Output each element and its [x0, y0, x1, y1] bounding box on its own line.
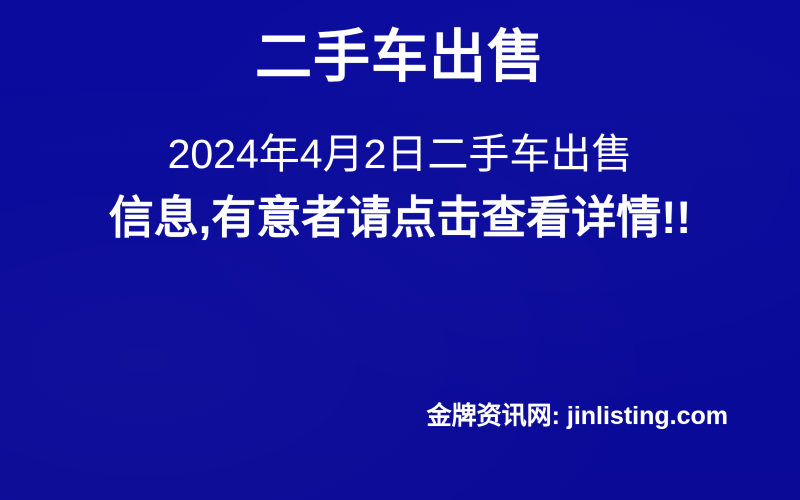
- footer-site-name: 金牌资讯网: [427, 402, 552, 430]
- body-text-block: 2024年4月2日二手车出售 信息,有意者请点击查看详情!!: [0, 134, 800, 240]
- body-line-date: 2024年4月2日二手车出售: [0, 134, 800, 175]
- body-line-call-to-action[interactable]: 信息,有意者请点击查看详情!!: [0, 195, 800, 240]
- poster-canvas: 二手车出售 2024年4月2日二手车出售 信息,有意者请点击查看详情!! 金牌资…: [0, 0, 800, 500]
- title-block: 二手车出售: [0, 26, 800, 90]
- footer-separator: :: [552, 402, 567, 430]
- footer-domain-link[interactable]: jinlisting.com: [567, 402, 728, 430]
- footer-credit: 金牌资讯网: jinlisting.com: [427, 401, 728, 431]
- page-title: 二手车出售: [255, 26, 545, 90]
- footer-block: 金牌资讯网: jinlisting.com: [0, 401, 800, 431]
